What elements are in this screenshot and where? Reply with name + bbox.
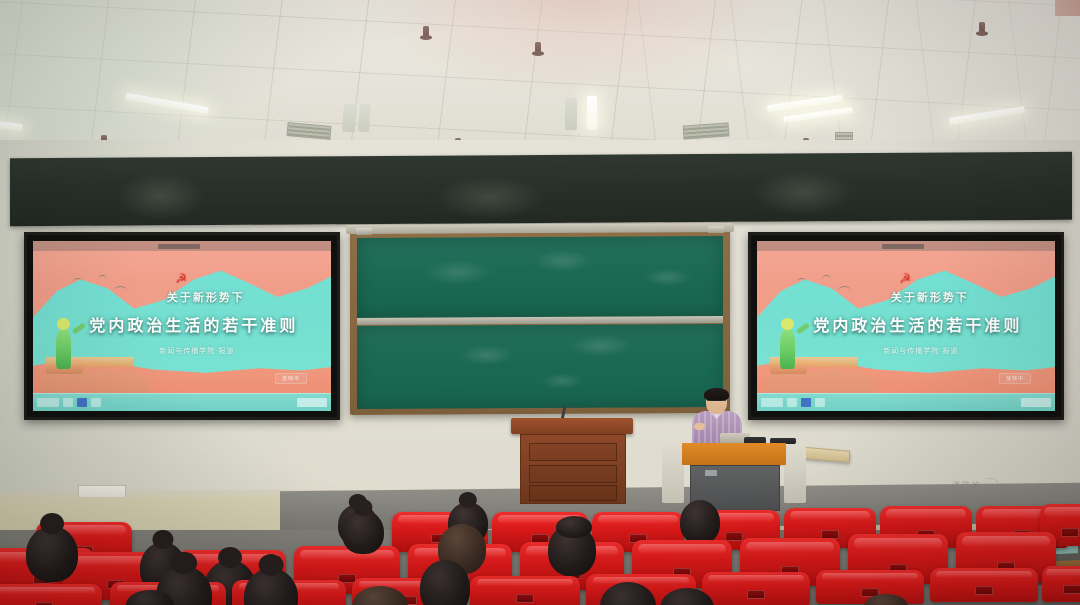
right-screen-surface: ☭ 关于新形势下 党内政治生活的若干准则 新闻与传播学院 报道 放映中: [757, 241, 1055, 411]
audience-head: [342, 510, 384, 554]
right-projection-screen[interactable]: ☭ 关于新形势下 党内政治生活的若干准则 新闻与传播学院 报道 放映中: [748, 232, 1064, 420]
table-row[interactable]: [930, 568, 1038, 602]
slide-subtitle: 新闻与传播学院 报道: [105, 346, 290, 356]
sprinkler-2: [535, 42, 541, 54]
console-top-panel: [682, 443, 786, 465]
ceiling-warm-glow: [371, 0, 782, 96]
slide-badge-right: 放映中: [999, 373, 1031, 384]
taskbar-icon-3[interactable]: [91, 398, 101, 407]
speaker-hand: [694, 423, 705, 430]
ceiling-light-3: [342, 104, 357, 133]
party-emblem-icon-right: ☭: [897, 268, 913, 288]
right-screen-topbar: [757, 241, 1055, 251]
slide-title-large-right: 党内政治生活的若干准则: [799, 312, 1037, 336]
left-screen-taskbar[interactable]: [33, 393, 331, 411]
audience-head: [26, 526, 78, 582]
left-projection-screen[interactable]: ☭ 关于新形势下 党内政治生活的若干准则 新闻与传播学院 报道 放映中: [24, 232, 340, 420]
chalkboard-clip-right: [708, 226, 724, 233]
taskbar-start-button[interactable]: [37, 398, 59, 407]
console-side-right: [784, 445, 806, 503]
taskbar-icon-2[interactable]: [77, 398, 87, 407]
ceiling-light-6: [565, 98, 577, 130]
audience-head: [680, 500, 720, 544]
right-screen-taskbar[interactable]: [757, 393, 1055, 411]
upper-wall-dark-band: [10, 152, 1072, 226]
audience-head: [556, 516, 592, 538]
taskbar-icon-1[interactable]: [63, 398, 73, 407]
podium[interactable]: [516, 418, 628, 502]
taskbar-icon-2-right[interactable]: [801, 398, 811, 407]
sprinkler-1: [423, 26, 429, 38]
sprinkler-3: [979, 22, 985, 34]
chalkboard-panel-upper[interactable]: [357, 236, 723, 318]
chalkboard-panel-lower[interactable]: [357, 324, 723, 409]
table-row[interactable]: [0, 584, 102, 605]
slide-badge: 放映中: [275, 373, 307, 384]
lecture-hall-photo: ☭ 关于新形势下 党内政治生活的若干准则 新闻与传播学院 报道 放映中: [0, 0, 1080, 605]
glasses-icon: [707, 400, 726, 405]
ceiling-light-4: [358, 104, 371, 133]
slide-subtitle-right: 新闻与传播学院 报道: [829, 346, 1014, 356]
chalkboard-rail: [346, 223, 734, 234]
party-emblem-icon: ☭: [173, 268, 189, 288]
table-row[interactable]: [702, 572, 810, 605]
taskbar-clock: [297, 398, 327, 407]
chalkboard[interactable]: [350, 228, 730, 415]
slide-title-small-right: 关于新形势下: [840, 289, 1019, 305]
taskbar-clock-right: [1021, 398, 1051, 407]
taskbar-start-button-right[interactable]: [761, 398, 783, 407]
chalkboard-clip-left: [356, 228, 372, 235]
slide-artwork: ☭ 关于新形势下 党内政治生活的若干准则 新闻与传播学院 报道 放映中: [33, 241, 331, 411]
left-screen-topbar: [33, 241, 331, 251]
table-row[interactable]: [1042, 566, 1080, 602]
left-screen-surface: ☭ 关于新形势下 党内政治生活的若干准则 新闻与传播学院 报道 放映中: [33, 241, 331, 411]
slide-artwork-right: ☭ 关于新形势下 党内政治生活的若干准则 新闻与传播学院 报道 放映中: [757, 241, 1055, 411]
ceiling-light-5: [587, 96, 597, 130]
slide-title-large: 党内政治生活的若干准则: [75, 312, 313, 336]
podium-body: [520, 434, 626, 504]
taskbar-icon-1-right[interactable]: [787, 398, 797, 407]
console-side-left: [662, 445, 684, 503]
table-row[interactable]: [470, 576, 580, 605]
slide-title-small: 关于新形势下: [116, 289, 295, 305]
console-label-plate: [705, 470, 717, 476]
podium-top-surface: [511, 418, 633, 434]
taskbar-icon-3-right[interactable]: [815, 398, 825, 407]
ceiling: [0, 0, 1080, 155]
ceiling-red-panel: [1055, 0, 1080, 16]
